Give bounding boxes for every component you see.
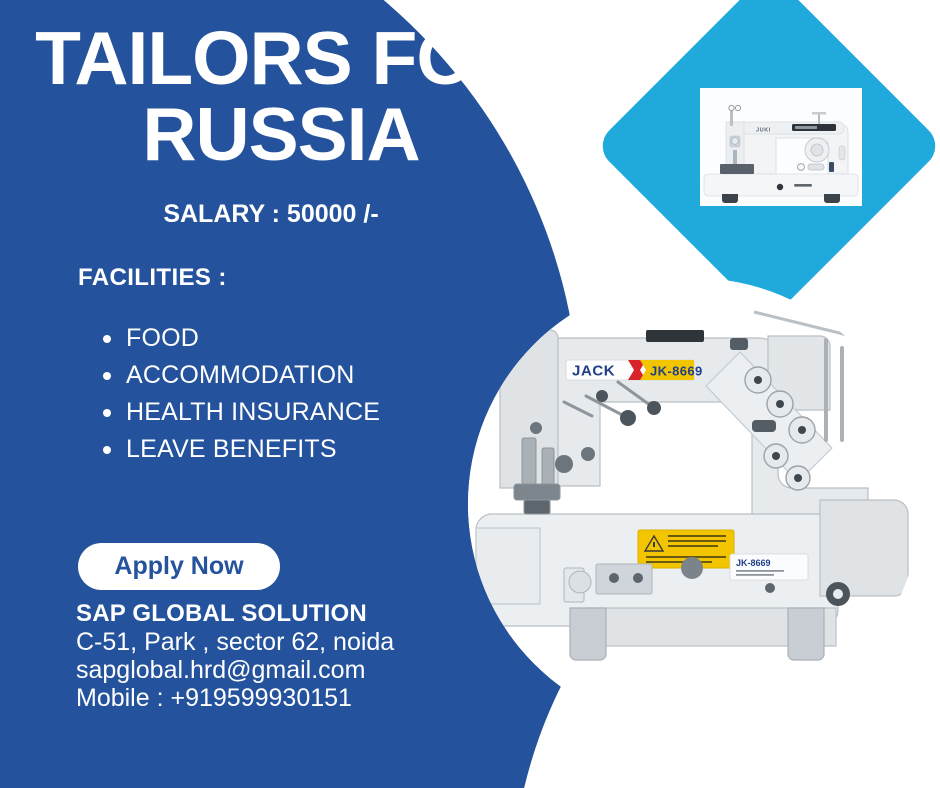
contact-mobile[interactable]: Mobile : +919599930151	[76, 686, 394, 711]
headline-line-1: TAILORS FOR	[26, 22, 536, 94]
list-item: FOOD	[126, 320, 380, 357]
svg-text:JK-8669: JK-8669	[650, 364, 703, 379]
machine-base-plate: JK-8669	[730, 554, 808, 580]
list-item: HEALTH INSURANCE	[126, 394, 380, 431]
contact-address: C-51, Park , sector 62, noida	[76, 630, 394, 655]
headline-line-2: RUSSIA	[26, 98, 536, 170]
salary-text: SALARY : 50000 /-	[26, 200, 516, 229]
contact-block: C-51, Park , sector 62, noida sapglobal.…	[76, 630, 394, 714]
page-title: TAILORS FOR RUSSIA	[26, 22, 536, 170]
industrial-sewing-machine-photo: JACK JK-8669	[468, 278, 920, 730]
facilities-list: FOOD ACCOMMODATION HEALTH INSURANCE LEAV…	[96, 320, 380, 468]
facilities-heading: FACILITIES :	[78, 264, 227, 292]
company-name: SAP GLOBAL SOLUTION	[76, 600, 367, 628]
svg-text:JACK: JACK	[572, 363, 615, 380]
svg-text:JUKI: JUKI	[756, 128, 771, 134]
domestic-sewing-machine-photo: JUKI	[700, 88, 862, 206]
contact-email[interactable]: sapglobal.hrd@gmail.com	[76, 658, 394, 683]
poster-canvas: JUKI	[0, 0, 940, 788]
list-item: LEAVE BENEFITS	[126, 431, 380, 468]
machine-brand-label: JACK JK-8669	[566, 360, 703, 380]
apply-now-button[interactable]: Apply Now	[78, 543, 280, 590]
svg-text:JK-8669: JK-8669	[736, 558, 771, 568]
list-item: ACCOMMODATION	[126, 357, 380, 394]
